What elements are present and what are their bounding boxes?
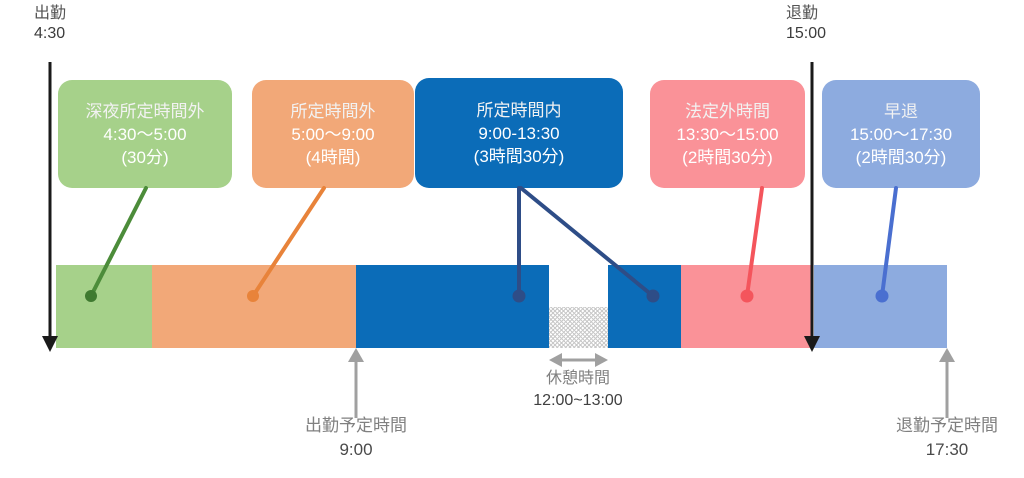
callout-early-leave[interactable]: 早退 15:00〜17:30 (2時間30分) [822,80,980,188]
segment-statutory-outside [681,265,813,348]
segment-overtime [152,265,356,348]
clock-in-time: 4:30 [34,24,66,44]
callout-title: 所定時間外 [291,100,376,123]
callout-title: 深夜所定時間外 [86,100,205,123]
callout-scheduled-hours[interactable]: 所定時間内 9:00-13:30 (3時間30分) [415,78,623,188]
scheduled-clock-out-label: 退勤予定時間 17:30 [847,414,1024,462]
callout-title: 早退 [884,100,918,123]
clock-out-time: 15:00 [786,24,826,44]
scheduled-clock-out-time: 17:30 [847,438,1024,462]
clock-in-marker-label: 出勤 4:30 [34,4,66,44]
break-time-range: 12:00~13:00 [468,390,688,412]
segment-scheduled-afternoon [608,265,681,348]
scheduled-clock-in-label: 出勤予定時間 9:00 [256,414,456,462]
callout-duration: (2時間30分) [856,146,947,169]
callout-range: 4:30〜5:00 [103,123,186,146]
break-time-label: 休憩時間 12:00~13:00 [468,368,688,412]
scheduled-clock-out-arrow [939,348,955,418]
callout-range: 9:00-13:30 [478,122,559,145]
segment-early-leave [814,265,947,348]
callout-range: 15:00〜17:30 [850,123,952,146]
callout-title: 法定外時間 [685,100,770,123]
callout-duration: (30分) [121,146,168,169]
scheduled-clock-in-title: 出勤予定時間 [256,414,456,438]
scheduled-clock-in-time: 9:00 [256,438,456,462]
clock-out-title: 退勤 [786,4,826,24]
callout-late-night-overtime[interactable]: 深夜所定時間外 4:30〜5:00 (30分) [58,80,232,188]
break-span-arrow [549,353,608,367]
break-time-title: 休憩時間 [468,368,688,390]
scheduled-clock-out-title: 退勤予定時間 [847,414,1024,438]
callout-title: 所定時間内 [477,99,562,122]
clock-out-marker-label: 退勤 15:00 [786,4,826,44]
callout-duration: (2時間30分) [682,146,773,169]
callout-statutory-outside[interactable]: 法定外時間 13:30〜15:00 (2時間30分) [650,80,805,188]
segment-scheduled-morning [356,265,549,348]
timeline-diagram: 出勤 4:30 退勤 15:00 深夜所定時間外 4:30〜5:00 (30分)… [0,0,1024,478]
segment-late-night-overtime [56,265,152,348]
callout-range: 13:30〜15:00 [676,123,778,146]
callout-overtime[interactable]: 所定時間外 5:00〜9:00 (4時間) [252,80,414,188]
callout-duration: (4時間) [306,146,361,169]
segment-break [549,307,608,348]
callout-duration: (3時間30分) [474,145,565,168]
clock-in-title: 出勤 [34,4,66,24]
callout-range: 5:00〜9:00 [291,123,374,146]
scheduled-clock-in-arrow [348,348,364,418]
